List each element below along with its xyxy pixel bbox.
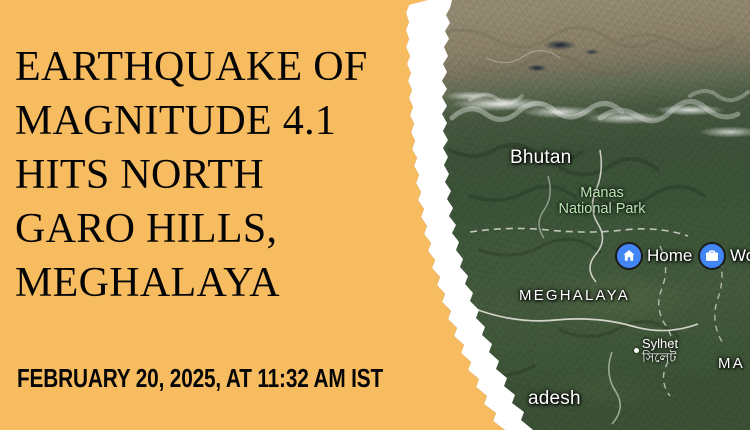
saved-place-home-label: Home: [647, 246, 692, 266]
work-briefcase-icon: [698, 242, 726, 270]
news-poster: Bhutan Manas National Park MEGHALAYA Syl…: [0, 0, 750, 430]
headline-line-3: HITS NORTH: [15, 148, 445, 202]
saved-place-work-label: Wo: [730, 246, 750, 266]
saved-place-home[interactable]: Home: [615, 242, 692, 270]
headline-line-2: MAGNITUDE 4.1: [15, 94, 445, 148]
saved-place-work[interactable]: Wo: [698, 242, 750, 270]
headline-line-4: GARO HILLS,: [15, 202, 445, 256]
city-marker-sylhet: [634, 348, 639, 353]
page-title: EARTHQUAKE OF MAGNITUDE 4.1 HITS NORTH G…: [15, 40, 445, 310]
timestamp-subtitle: FEBRUARY 20, 2025, AT 11:32 AM IST: [17, 364, 383, 392]
headline-line-5: MEGHALAYA: [15, 256, 445, 310]
home-icon: [615, 242, 643, 270]
headline-line-1: EARTHQUAKE OF: [15, 40, 445, 94]
